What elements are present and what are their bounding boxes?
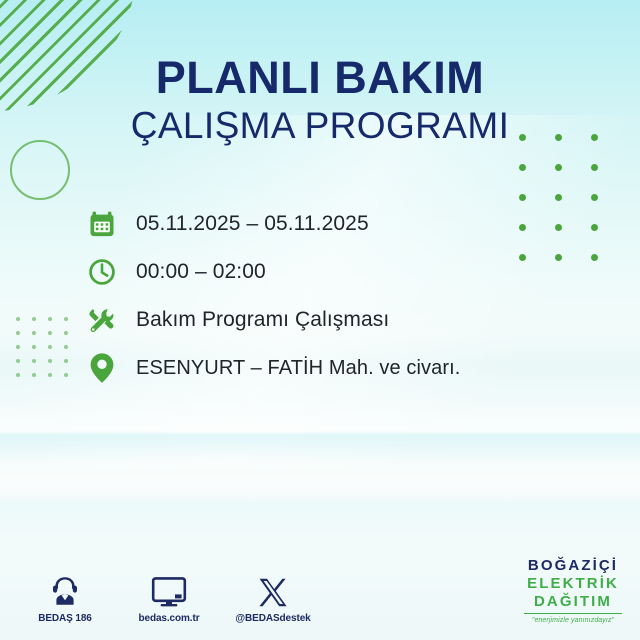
detail-date-range: 05.11.2025 – 05.11.2025: [136, 212, 369, 236]
location-pin-icon: [86, 351, 118, 385]
detail-row-work-type: Bakım Programı Çalışması: [86, 296, 566, 344]
planned-maintenance-poster: PLANLI BAKIM ÇALIŞMA PROGRAMI: [0, 0, 640, 640]
contact-website[interactable]: bedas.com.tr: [130, 570, 208, 626]
contact-x-label: @BEDASdestek: [235, 613, 310, 624]
brand-line-bogazici: BOĞAZİÇİ: [524, 558, 622, 573]
monitor-icon: [130, 570, 208, 608]
contact-call-center[interactable]: BEDAŞ 186: [26, 570, 104, 626]
detail-work-type: Bakım Programı Çalışması: [136, 308, 389, 332]
contact-channels: BEDAŞ 186 bedas.com.tr: [26, 570, 312, 626]
contact-x-social[interactable]: @BEDASdestek: [234, 570, 312, 626]
footer: BEDAŞ 186 bedas.com.tr: [0, 544, 640, 640]
circle-outline-decoration: [10, 140, 70, 200]
contact-website-label: bedas.com.tr: [138, 613, 199, 624]
x-social-icon: [234, 570, 312, 608]
bedas-logo: BOĞAZİÇİ ELEKTRİK DAĞITIM "enerjimizle y…: [524, 558, 622, 624]
contact-call-center-label: BEDAŞ 186: [38, 613, 92, 624]
brand-line-elektrik: ELEKTRİK: [524, 576, 622, 591]
maintenance-details-list: 05.11.2025 – 05.11.2025 00:00 – 02:00: [86, 200, 566, 392]
title-line-secondary: ÇALIŞMA PROGRAMI: [0, 105, 640, 148]
brand-divider: [524, 613, 622, 614]
detail-row-time: 00:00 – 02:00: [86, 248, 566, 296]
brand-line-dagitim: DAĞITIM: [524, 594, 622, 609]
detail-row-date: 05.11.2025 – 05.11.2025: [86, 200, 566, 248]
background-wave-lower: [0, 452, 640, 542]
detail-location: ESENYURT – FATİH Mah. ve civarı.: [136, 357, 460, 380]
background-wave-upper: [0, 404, 640, 464]
title-line-primary: PLANLI BAKIM: [0, 54, 640, 101]
page-title: PLANLI BAKIM ÇALIŞMA PROGRAMI: [0, 54, 640, 148]
calendar-icon: [86, 207, 118, 241]
brand-slogan: "enerjimizle yanınızdayız": [524, 617, 622, 624]
detail-time-range: 00:00 – 02:00: [136, 260, 266, 284]
clock-icon: [86, 255, 118, 289]
tools-icon: [86, 303, 118, 337]
dot-grid-left-decoration: [10, 312, 74, 382]
call-center-agent-icon: [26, 570, 104, 608]
detail-row-location: ESENYURT – FATİH Mah. ve civarı.: [86, 344, 566, 392]
